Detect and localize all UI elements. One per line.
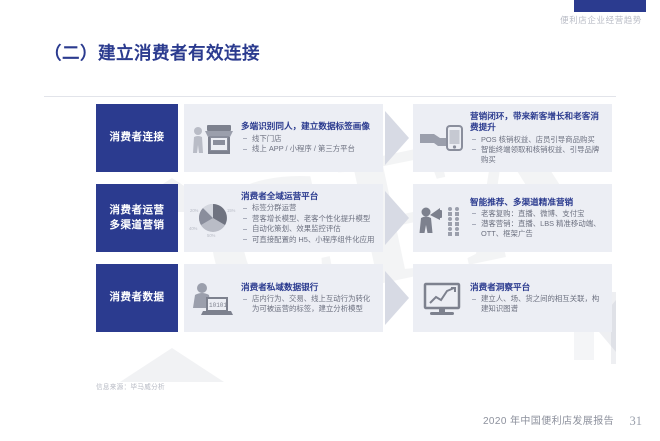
row-label-text: 消费者数据: [110, 290, 165, 305]
svg-text:50%: 50%: [207, 233, 216, 238]
storefront-person-icon: [188, 113, 238, 163]
bullet-item: 线上 APP / 小程序 / 第三方平台: [241, 144, 377, 154]
bullet-item: 线下门店: [241, 134, 377, 144]
consumer-connection-diagram: 消费者连接 多端识别: [96, 104, 612, 344]
row1-right-bullets: POS 核销权益、店员引导商品购买 智能终端领取和核销权益、引导品牌购买: [470, 135, 606, 165]
row3-right-panel: 消费者洞察平台 建立人、场、货之间的相互关联，构建知识图谱: [413, 264, 612, 332]
row2-right-panel: 智能推荐、多渠道精准营销 老客复购：直播、微博、支付宝 潜客营销：直播、LBS …: [413, 184, 612, 252]
row2-right-text: 智能推荐、多渠道精准营销 老客复购：直播、微博、支付宝 潜客营销：直播、LBS …: [470, 197, 606, 240]
megaphone-audience-icon: [417, 193, 467, 243]
row1-left-text: 多端识别同人，建立数据标签画像 线下门店 线上 APP / 小程序 / 第三方平…: [241, 121, 377, 154]
bullet-item: 店内行为、交易、线上互动行为转化为可被运营的标签，建立分析模型: [241, 294, 377, 314]
row-label-consumer-connection: 消费者连接: [96, 104, 178, 172]
row3-right-bullets: 建立人、场、货之间的相互关联，构建知识图谱: [470, 294, 606, 314]
row3-left-bullets: 店内行为、交易、线上互动行为转化为可被运营的标签，建立分析模型: [241, 294, 377, 314]
row1-right-panel: 营销闭环，带来新客增长和老客消费提升 POS 核销权益、店员引导商品购买 智能终…: [413, 104, 612, 172]
svg-text:40%: 40%: [189, 226, 198, 231]
row-label-text-line1: 消费者运营: [110, 203, 165, 218]
diagram-row: 消费者数据 10101 消费者私域数据银行 店内行为、交易、线上互动行为转化为可: [96, 264, 612, 332]
bullet-item: 建立人、场、货之间的相互关联，构建知识图谱: [470, 294, 606, 314]
bullet-item: 老客复购：直播、微博、支付宝: [470, 209, 606, 219]
bullet-item: 自动化策划、效果监控评估: [241, 224, 377, 234]
bullet-item: 营客增长模型、老客个性化提升模型: [241, 214, 377, 224]
row1-left-panel: 多端识别同人，建立数据标签画像 线下门店 线上 APP / 小程序 / 第三方平…: [184, 104, 383, 172]
row3-right-text: 消费者洞察平台 建立人、场、货之间的相互关联，构建知识图谱: [470, 282, 606, 315]
row3-left-heading: 消费者私域数据银行: [241, 282, 377, 293]
top-accent-bar: [574, 0, 646, 12]
diagram-row: 消费者连接 多端识别: [96, 104, 612, 172]
footer-report-title: 2020 年中国便利店发展报告: [483, 412, 614, 427]
title-divider: [44, 96, 616, 97]
row2-left-heading: 消费者全域运营平台: [241, 191, 377, 202]
row2-left-panel: 20% 15% 40% 50% 消费者全域运营平台 标签分群运营 营客增长模型、…: [184, 184, 383, 252]
source-note: 信息来源：毕马威分析: [96, 381, 165, 391]
row1-arrow-connector: [383, 104, 413, 172]
bullet-item: 可直接配置的 H5、小程序组件化应用: [241, 235, 377, 245]
footer-page-number: 31: [630, 414, 643, 429]
diagram-row: 消费者运营 多渠道营销 20% 15% 40% 50%: [96, 184, 612, 252]
row-label-text-line2: 多渠道营销: [110, 218, 165, 233]
row2-arrow-connector: [383, 184, 413, 252]
row2-left-text: 消费者全域运营平台 标签分群运营 营客增长模型、老客个性化提升模型 自动化策划、…: [241, 191, 377, 245]
bullet-item: 潜客营销：直播、LBS 精准移动端、OTT、框架广告: [470, 219, 606, 239]
person-laptop-data-icon: 10101: [188, 273, 238, 323]
bullet-item: POS 核销权益、店员引导商品购买: [470, 135, 606, 145]
slide-page: CFA 便利店企业经营趋势 （二）建立消费者有效连接 消费者连接: [0, 0, 660, 441]
bullet-item: 标签分群运营: [241, 203, 377, 213]
hand-smartphone-icon: [417, 113, 467, 163]
row1-right-text: 营销闭环，带来新客增长和老客消费提升 POS 核销权益、店员引导商品购买 智能终…: [470, 111, 606, 165]
row-label-consumer-data: 消费者数据: [96, 264, 178, 332]
pie-chart-icon: 20% 15% 40% 50%: [188, 193, 238, 243]
monitor-trendline-icon: [417, 273, 467, 323]
row-label-text: 消费者连接: [110, 130, 165, 145]
svg-text:10101: 10101: [209, 302, 227, 309]
row3-left-text: 消费者私域数据银行 店内行为、交易、线上互动行为转化为可被运营的标签，建立分析模…: [241, 282, 377, 315]
chevron-up-decoration: [120, 348, 224, 382]
section-label: 便利店企业经营趋势: [560, 14, 642, 26]
footer-divider: [44, 404, 616, 405]
row1-left-heading: 多端识别同人，建立数据标签画像: [241, 121, 377, 132]
row2-left-bullets: 标签分群运营 营客增长模型、老客个性化提升模型 自动化策划、效果监控评估 可直接…: [241, 203, 377, 244]
row1-left-bullets: 线下门店 线上 APP / 小程序 / 第三方平台: [241, 134, 377, 154]
row3-left-panel: 10101 消费者私域数据银行 店内行为、交易、线上互动行为转化为可被运营的标签…: [184, 264, 383, 332]
row2-right-bullets: 老客复购：直播、微博、支付宝 潜客营销：直播、LBS 精准移动端、OTT、框架广…: [470, 209, 606, 239]
row3-right-heading: 消费者洞察平台: [470, 282, 606, 293]
row-label-consumer-operation: 消费者运营 多渠道营销: [96, 184, 178, 252]
bullet-item: 智能终端领取和核销权益、引导品牌购买: [470, 145, 606, 165]
page-title: （二）建立消费者有效连接: [44, 40, 260, 65]
row1-right-heading: 营销闭环，带来新客增长和老客消费提升: [470, 111, 606, 134]
row3-arrow-connector: [383, 264, 413, 332]
row2-right-heading: 智能推荐、多渠道精准营销: [470, 197, 606, 208]
svg-text:15%: 15%: [227, 208, 236, 213]
svg-text:20%: 20%: [190, 208, 199, 213]
